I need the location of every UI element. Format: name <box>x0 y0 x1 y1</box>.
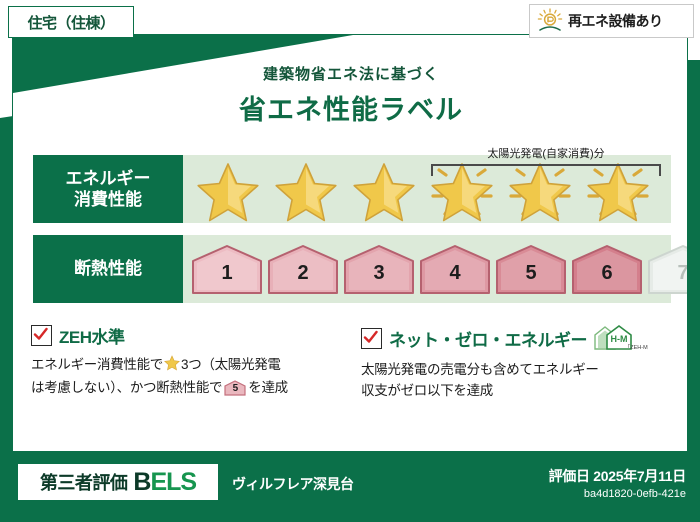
insulation-house-number: 4 <box>419 243 491 295</box>
inline-house-icon: 5 <box>224 380 246 396</box>
insulation-house-5: 5 <box>495 243 571 295</box>
house-rating: 1 2 3 4 5 6 7 <box>183 235 671 303</box>
zeh-m-logo-icon: H-M 「ZEH-M」 <box>592 323 648 353</box>
title-block: 建築物省エネ法に基づく 省エネ性能ラベル <box>13 63 688 127</box>
energy-label-line2: 消費性能 <box>74 189 142 210</box>
energy-label-line1: エネルギー <box>66 168 151 189</box>
insulation-label: 断熱性能 <box>74 258 142 279</box>
criteria-nzeb-title: ネット・ゼロ・エネルギー <box>389 326 587 351</box>
evaluation-date-label: 評価日 <box>549 468 590 484</box>
renewable-equipment-label: 再エネ設備あり <box>568 11 663 31</box>
energy-performance-label-box: エネルギー 消費性能 <box>33 155 183 223</box>
zeh-text-after-star: 3つ（太陽光発電 <box>181 357 281 372</box>
evaluation-date: 評価日 2025年7月11日 <box>549 466 686 486</box>
zeh-text-line2-after: を達成 <box>248 380 288 395</box>
building-type-label: 住宅（住棟） <box>27 12 114 33</box>
insulation-performance-scale: 1 2 3 4 5 6 7 <box>183 235 671 303</box>
zeh-text-before-star: エネルギー消費性能で <box>31 357 163 372</box>
star-1 <box>189 156 267 222</box>
insulation-house-6: 6 <box>571 243 647 295</box>
insulation-house-4: 4 <box>419 243 495 295</box>
svg-text:「ZEH-M」: 「ZEH-M」 <box>625 344 648 351</box>
bels-letters-els: ELS <box>150 468 196 496</box>
zeh-check-icon <box>31 325 52 346</box>
title-main: 省エネ性能ラベル <box>13 88 688 127</box>
solar-bracket <box>431 164 661 176</box>
renewable-equipment-badge: 再エネ設備あり <box>529 4 694 38</box>
energy-performance-scale: 太陽光発電(自家消費)分 <box>183 155 671 223</box>
building-type-tab: 住宅（住棟） <box>8 6 134 38</box>
inline-star-icon <box>164 359 180 374</box>
title-subtitle: 建築物省エネ法に基づく <box>13 63 688 84</box>
bels-wordmark: BELS <box>133 468 196 497</box>
evaluation-date-value: 2025年7月11日 <box>593 468 686 484</box>
solar-sun-icon <box>535 8 565 34</box>
nzeb-text-line1: 太陽光発電の売電分も含めてエネルギー <box>361 362 599 377</box>
criteria-nzeb-header: ネット・ゼロ・エネルギー H-M 「ZEH-M」 <box>361 323 676 353</box>
label-card: ハウスメイト 建築物省エネ法に基づく 省エネ性能ラベル エネルギー 消費性能 太… <box>12 34 688 452</box>
star-2 <box>267 156 345 222</box>
inline-house-value: 5 <box>224 382 246 396</box>
criteria-zeh-header: ZEH水準 <box>31 323 341 348</box>
criteria-zeh-title: ZEH水準 <box>59 323 125 348</box>
criteria-net-zero-energy: ネット・ゼロ・エネルギー H-M 「ZEH-M」 太陽光発電の売電分も含めてエネ… <box>361 323 676 402</box>
solar-bracket-caption: 太陽光発電(自家消費)分 <box>431 145 661 161</box>
insulation-house-2: 2 <box>267 243 343 295</box>
energy-performance-label: 住宅（住棟） 再エネ設備あり <box>0 0 700 522</box>
energy-performance-row: エネルギー 消費性能 太陽光発電(自家消費)分 <box>33 155 671 223</box>
label-id: ba4d1820-0efb-421e <box>584 488 686 500</box>
bels-letter-b: B <box>133 468 150 496</box>
criteria-nzeb-text: 太陽光発電の売電分も含めてエネルギー 収支がゼロ以下を達成 <box>361 360 676 402</box>
zeh-text-line2-before: は考慮しない）、かつ断熱性能で <box>31 380 222 395</box>
insulation-house-7: 7 <box>647 243 688 295</box>
svg-text:H-M: H-M <box>611 334 628 344</box>
criteria-zeh-text: エネルギー消費性能で3つ（太陽光発電 は考慮しない）、かつ断熱性能で5を達成 <box>31 355 341 399</box>
nzeb-text-line2: 収支がゼロ以下を達成 <box>361 383 493 398</box>
insulation-performance-label-box: 断熱性能 <box>33 235 183 303</box>
insulation-house-number: 7 <box>647 243 688 295</box>
insulation-performance-row: 断熱性能 1 2 3 4 5 6 <box>33 235 671 303</box>
insulation-house-number: 6 <box>571 243 643 295</box>
third-party-eval-label: 第三者評価 <box>40 469 128 495</box>
insulation-house-number: 5 <box>495 243 567 295</box>
insulation-house-number: 2 <box>267 243 339 295</box>
insulation-house-3: 3 <box>343 243 419 295</box>
insulation-house-number: 3 <box>343 243 415 295</box>
criteria-zeh: ZEH水準 エネルギー消費性能で3つ（太陽光発電 は考慮しない）、かつ断熱性能で… <box>31 323 341 399</box>
bels-badge: 第三者評価 BELS <box>18 464 218 500</box>
nzeb-check-icon <box>361 328 382 349</box>
insulation-house-number: 1 <box>191 243 263 295</box>
star-3 <box>345 156 423 222</box>
property-name: ヴィルフレア深見台 <box>232 474 354 494</box>
insulation-house-1: 1 <box>191 243 267 295</box>
